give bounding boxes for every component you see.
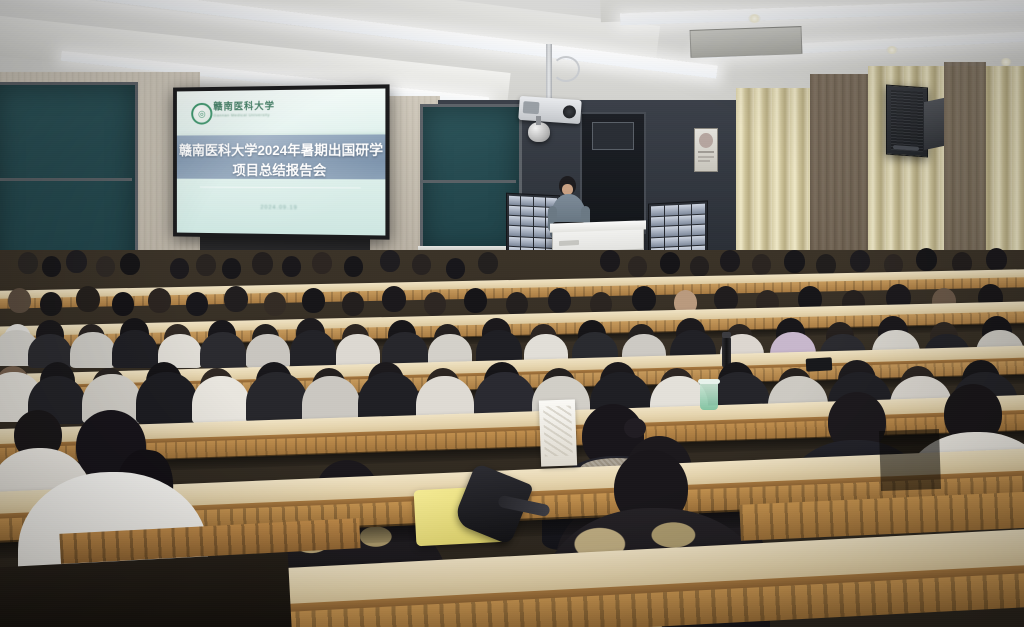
ceiling-air-vent: [690, 26, 803, 58]
door-window: [592, 122, 634, 150]
slide-title-line-1: 赣南医科大学2024年暑期出国研学: [179, 141, 383, 161]
speaker-bracket: [924, 98, 944, 150]
ceiling-dome-camera: [528, 122, 550, 142]
slide-divider: [200, 187, 361, 189]
slide-footer: 2024.09.19: [177, 179, 386, 236]
projection-screen: ◎ 赣南医科大学 Gannan Medical University 赣南医科大…: [173, 84, 389, 239]
logo-en-name: Gannan Medical University: [213, 112, 322, 119]
recessed-downlight: [1000, 58, 1012, 66]
green-drink-cup-lid: [698, 379, 720, 384]
camera-stem: [536, 116, 541, 125]
university-logo-text: 赣南医科大学 Gannan Medical University: [213, 100, 322, 118]
recessed-downlight: [886, 46, 898, 54]
projector-cable: [552, 56, 580, 82]
recessed-downlight: [748, 14, 761, 23]
chalkboard-divider: [0, 178, 132, 181]
framed-wall-poster: [694, 128, 718, 172]
slide-date: 2024.09.19: [177, 204, 386, 212]
ceiling-mounted-projector: [518, 96, 582, 124]
university-logo-icon: ◎: [191, 103, 212, 125]
presentation-slide: ◎ 赣南医科大学 Gannan Medical University 赣南医科大…: [177, 88, 386, 235]
lecture-hall-photo: ◎ 赣南医科大学 Gannan Medical University 赣南医科大…: [0, 0, 1024, 627]
center-aisle: [879, 429, 941, 491]
projector-mount-rod: [546, 44, 552, 102]
wall-mounted-loudspeaker: [886, 85, 928, 158]
chalkboard-divider: [420, 180, 516, 183]
